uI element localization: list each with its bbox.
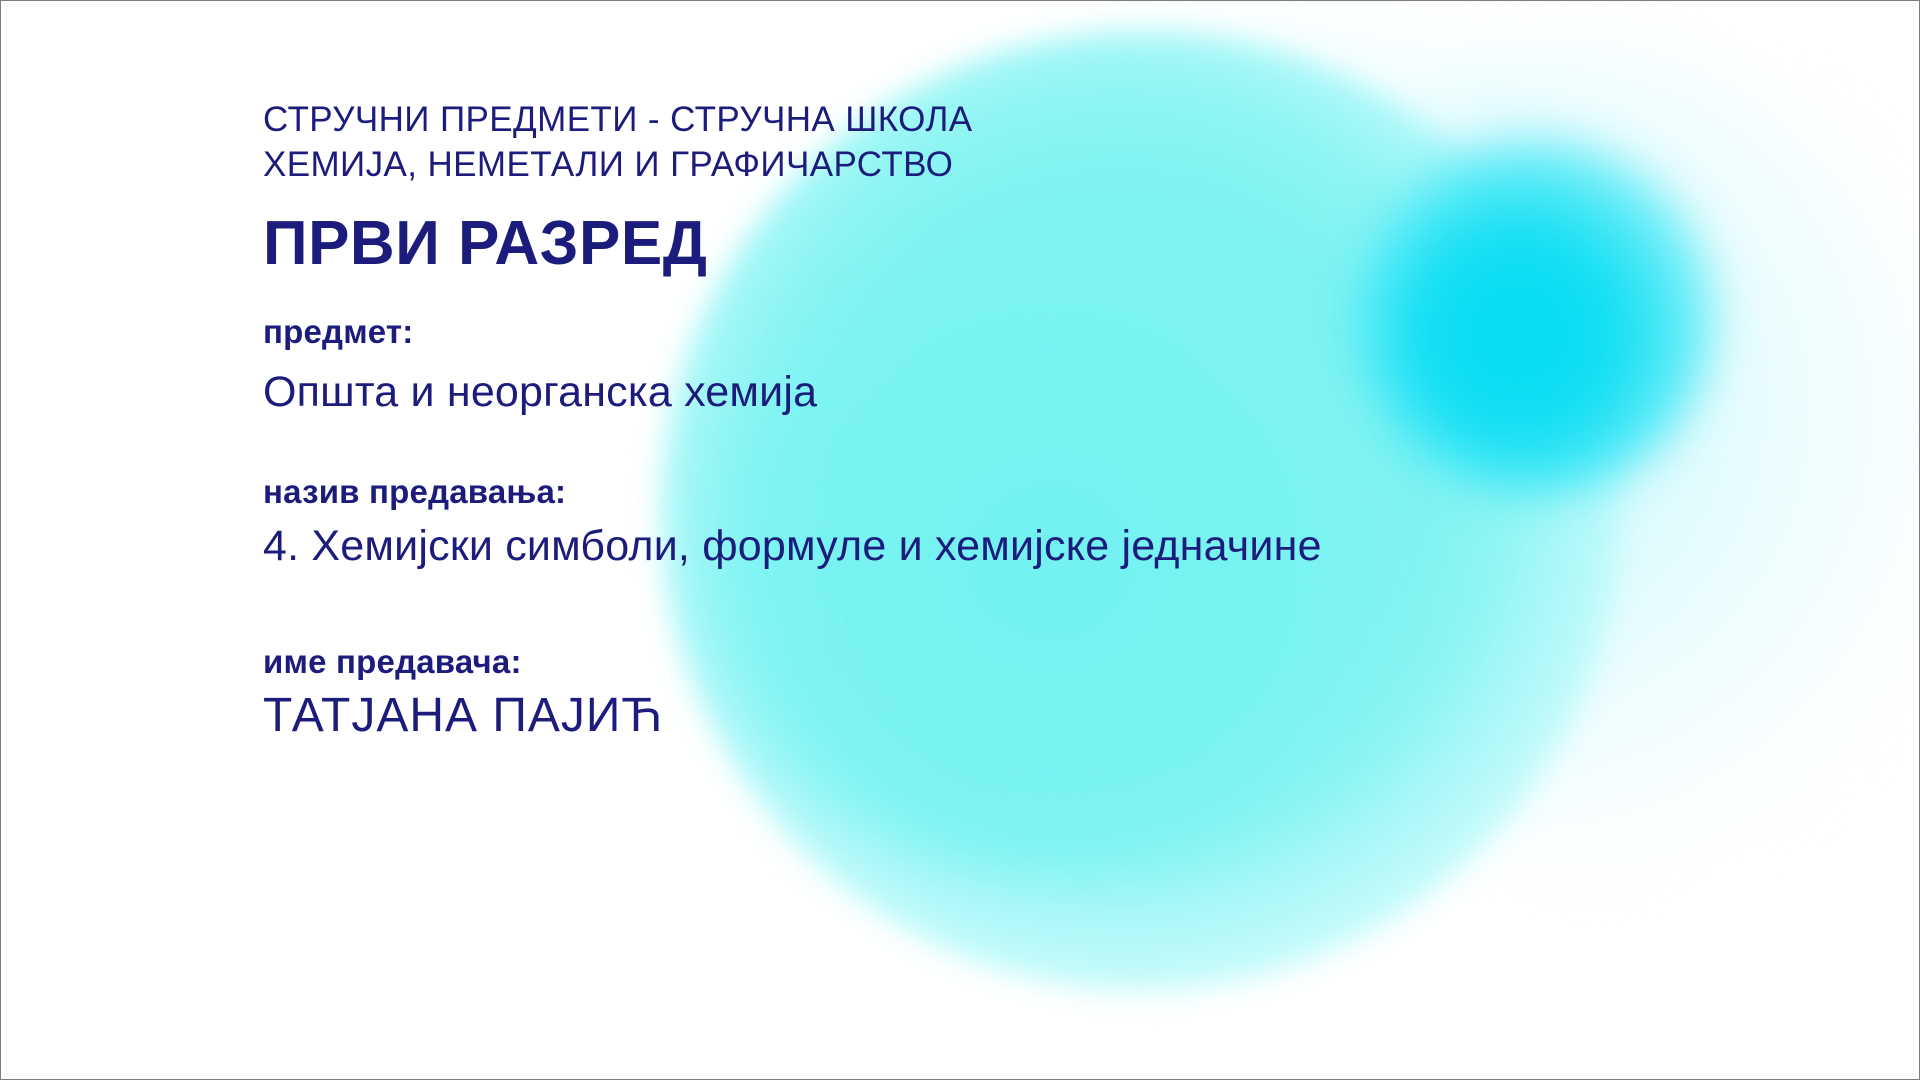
school-program-line-2: ХЕМИЈА, НЕМЕТАЛИ И ГРАФИЧАРСТВО	[263, 142, 1763, 187]
lecturer-name-label: име предавача:	[263, 641, 1763, 683]
slide-text-block: СТРУЧНИ ПРЕДМЕТИ - СТРУЧНА ШКОЛА ХЕМИЈА,…	[263, 97, 1763, 745]
lesson-title-slide: СТРУЧНИ ПРЕДМЕТИ - СТРУЧНА ШКОЛА ХЕМИЈА,…	[0, 0, 1920, 1080]
subject-value: Општа и неорганска хемија	[263, 365, 1763, 419]
lecture-title-value: 4. Хемијски симболи, формуле и хемијске …	[263, 519, 1763, 573]
lecture-title-label: назив предавања:	[263, 471, 1763, 513]
grade-title: ПРВИ РАЗРЕД	[263, 209, 1763, 279]
subject-label: предмет:	[263, 311, 1763, 353]
school-program-line-1: СТРУЧНИ ПРЕДМЕТИ - СТРУЧНА ШКОЛА	[263, 97, 1763, 142]
lecturer-name-value: ТАТЈАНА ПАЈИЋ	[263, 687, 1763, 745]
